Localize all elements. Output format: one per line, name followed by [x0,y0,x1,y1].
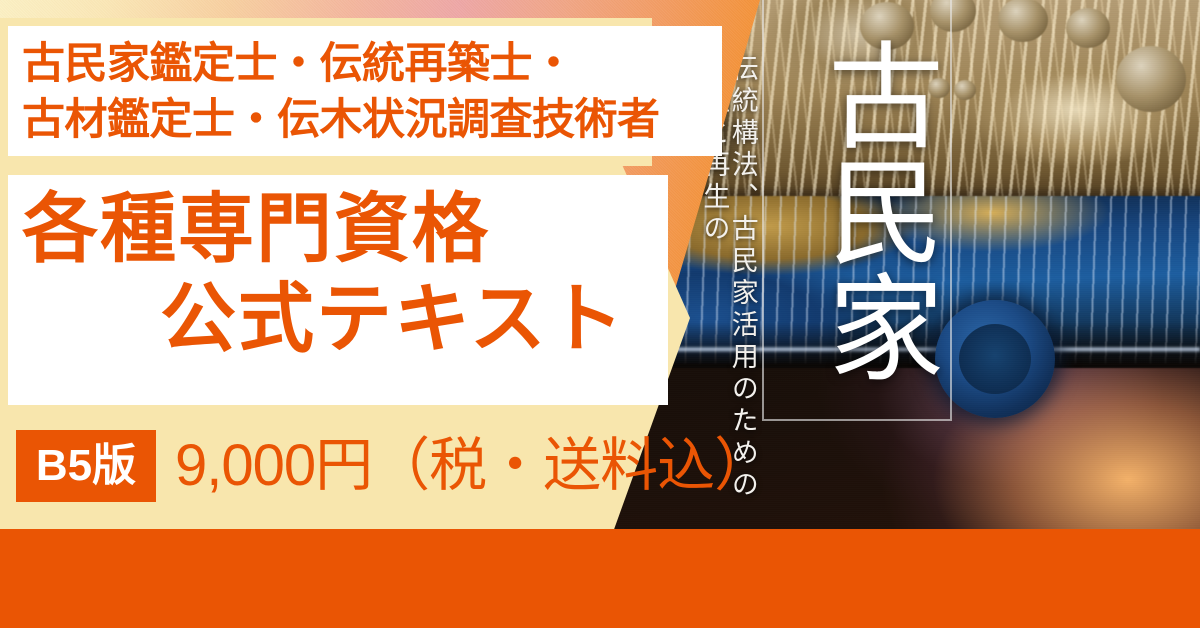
headline-line-1: 古民家鑑定士・伝統再築士・ [22,36,722,92]
cta-bar[interactable]: 詳細・ご購入はこちら [0,529,1200,628]
subhead-line-2: 公式テキスト [160,278,626,362]
headline-text: 古民家鑑定士・伝統再築士・ 古材鑑定士・伝木状況調査技術者 [12,30,722,152]
headline-line-2: 古材鑑定士・伝木状況調査技術者 [22,92,722,148]
format-badge: B5版 [16,430,156,502]
subhead-line-1: 各種専門資格 [22,188,490,272]
promo-banner: 古民家 伝統構法、古民家活用のための調査と再生の 古民家鑑定士・伝統再築士・ 古… [0,0,1200,628]
price-text: 9,000円（税・送料込） [175,428,771,504]
cover-title: 古民家 [768,10,942,410]
